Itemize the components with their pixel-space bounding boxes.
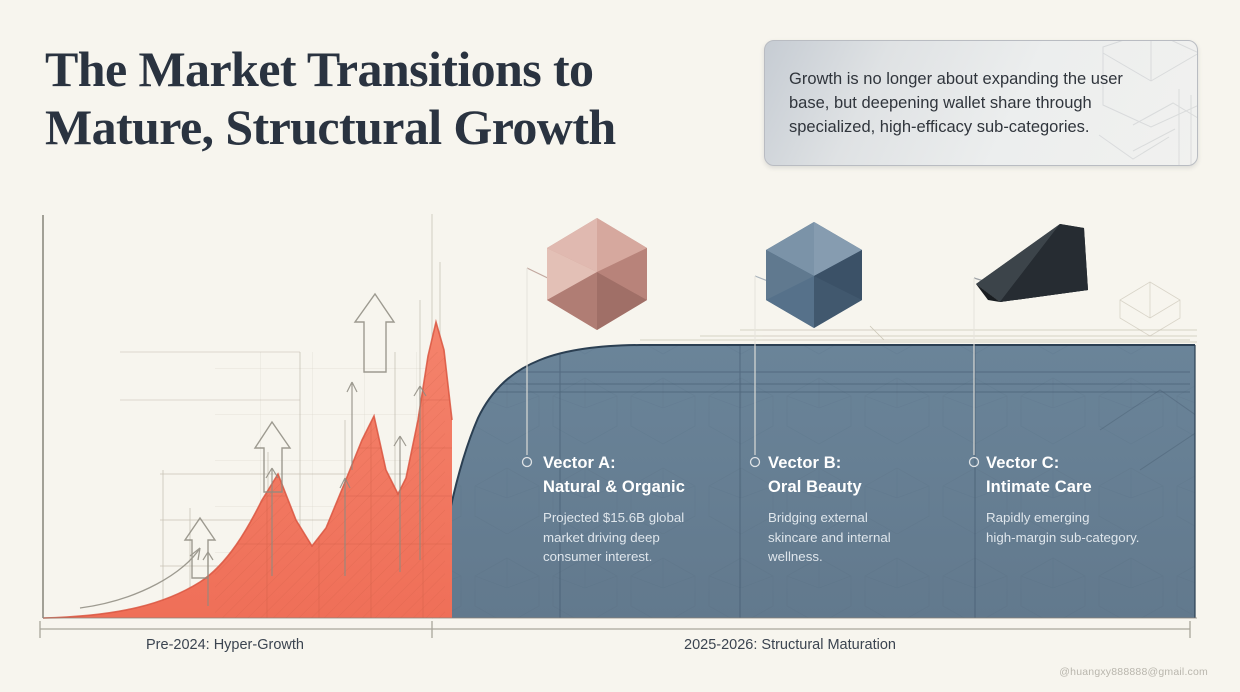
- vector-c-heading: Vector C: Intimate Care: [986, 452, 1186, 499]
- vector-a-body: Projected $15.6B global market driving d…: [543, 508, 723, 567]
- insight-callout: Growth is no longer about expanding the …: [764, 40, 1198, 166]
- infographic-root: The Market Transitions to Mature, Struct…: [0, 0, 1240, 692]
- vector-b-body: Bridging external skincare and internal …: [768, 508, 948, 567]
- icosahedron-icon: [547, 218, 647, 330]
- vector-a-heading: Vector A: Natural & Organic: [543, 452, 723, 499]
- insight-callout-text: Growth is no longer about expanding the …: [789, 67, 1179, 139]
- triangular-prism-icon: [976, 224, 1088, 302]
- page-title: The Market Transitions to Mature, Struct…: [45, 40, 725, 156]
- vector-label-a: Vector A: Natural & Organic Projected $1…: [543, 452, 723, 567]
- cube-icon: [766, 222, 862, 328]
- vector-c-body: Rapidly emerging high-margin sub-categor…: [986, 508, 1186, 547]
- vector-b-heading: Vector B: Oral Beauty: [768, 452, 948, 499]
- axis-caption-2025-2026: 2025-2026: Structural Maturation: [684, 637, 896, 653]
- vector-label-b: Vector B: Oral Beauty Bridging external …: [768, 452, 948, 567]
- watermark: @huangxy888888@gmail.com: [1059, 666, 1208, 678]
- axis-caption-pre-2024: Pre-2024: Hyper-Growth: [146, 637, 304, 653]
- phase-axis-bracket: [40, 621, 1190, 638]
- vector-label-c: Vector C: Intimate Care Rapidly emerging…: [986, 452, 1186, 547]
